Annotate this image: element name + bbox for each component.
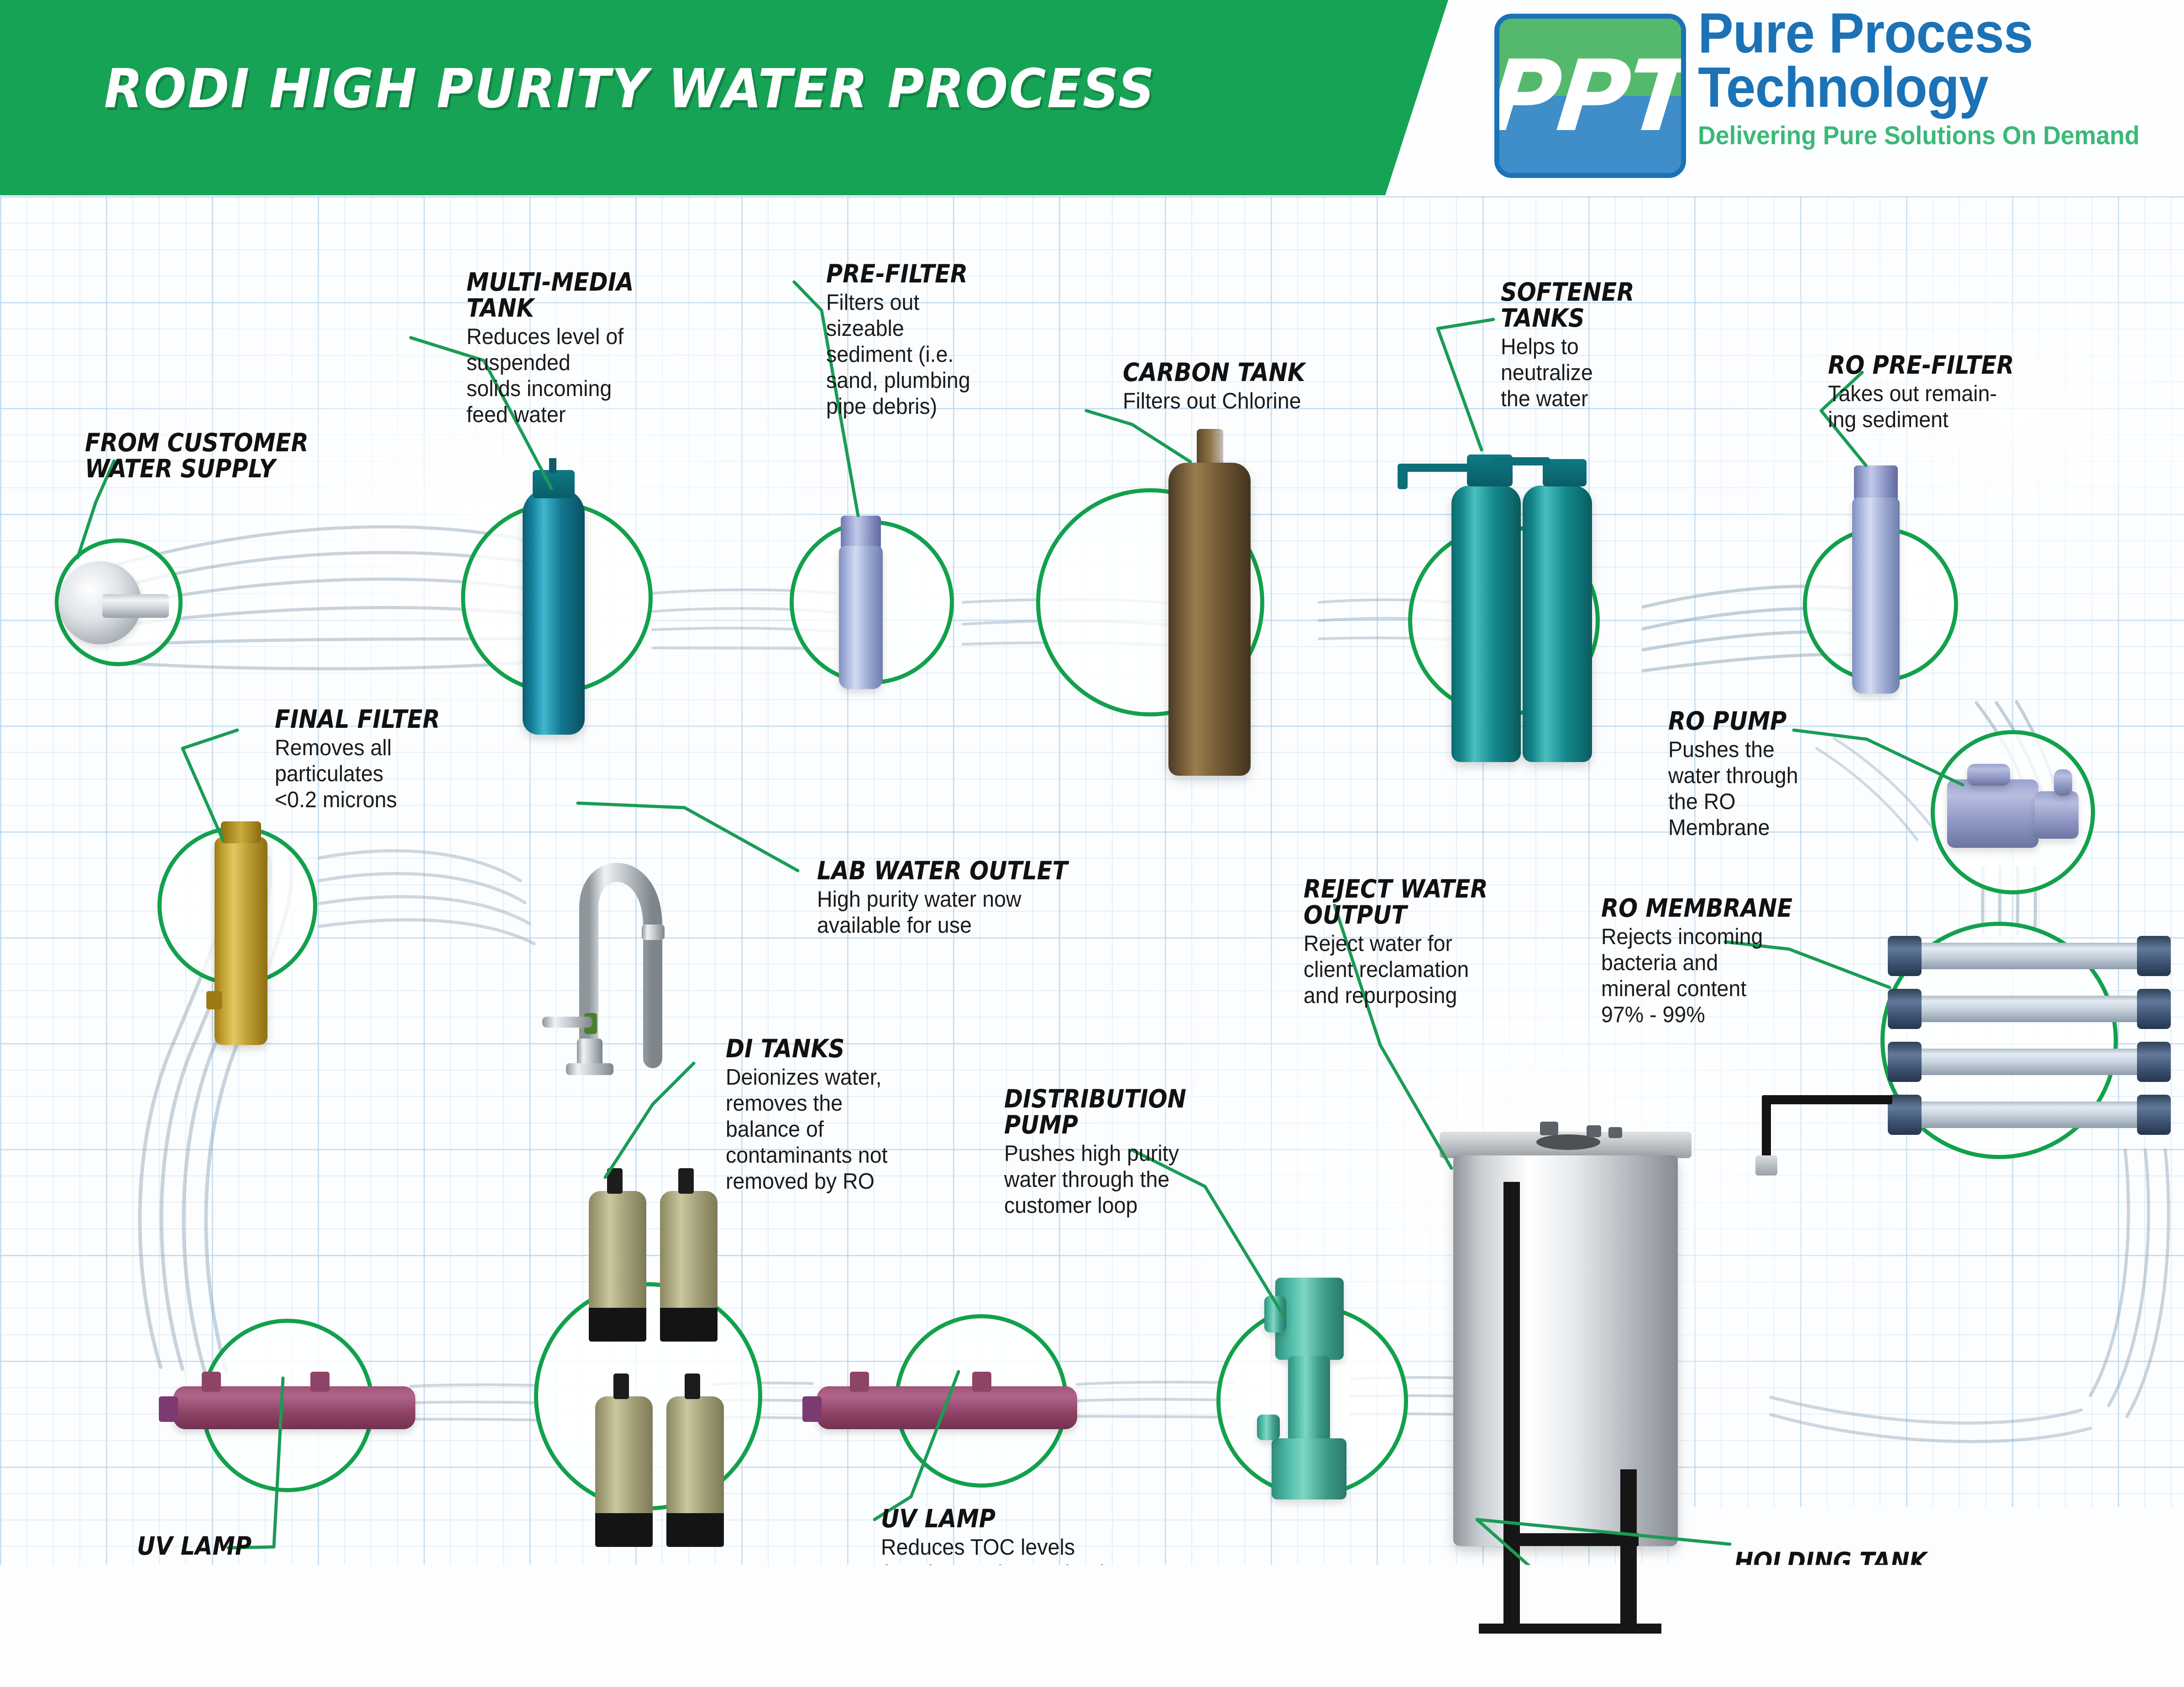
callout-uv-lamp-toc: UV LAMP Reduces TOC levels (Total Organi… — [881, 1506, 1228, 1587]
callout-reject-water-output: REJECT WATER OUTPUT Reject water for cli… — [1304, 876, 1550, 1009]
softener-left-inlet-elbow — [1398, 464, 1408, 489]
callout-body: Reject water for client reclamation and … — [1304, 931, 1538, 1008]
multi-media-tank-body — [523, 488, 585, 735]
di-tank — [660, 1191, 718, 1342]
ro-membrane-end-cap-right — [2137, 936, 2171, 976]
ro-membrane-array — [1888, 938, 2171, 1144]
di-tank-base — [660, 1308, 718, 1342]
ro-membrane-vessel — [1888, 991, 2171, 1027]
water-supply-inlet — [58, 558, 168, 649]
callout-title: FROM CUSTOMER WATER SUPPLY — [85, 430, 340, 482]
callout-body: Kills bacteria — [137, 1562, 345, 1588]
logo-name-line-2: Technology — [1698, 61, 2140, 115]
holding-tank-leg-right — [1620, 1469, 1637, 1634]
distribution-pump-terminal-box — [1264, 1296, 1286, 1332]
softener-tank-right — [1523, 461, 1592, 762]
ro-pump-discharge-port — [2054, 769, 2072, 796]
distribution-pump-suction-port — [1257, 1415, 1280, 1440]
di-tank — [666, 1396, 724, 1547]
carbon-tank — [1168, 429, 1251, 776]
softener-tank-right-body — [1523, 486, 1592, 762]
callout-body: Filters out sizeable sediment (i.e. sand… — [826, 290, 1021, 419]
callout-pre-filter: PRE-FILTER Filters out sizeable sediment… — [826, 261, 1032, 419]
distribution-pump — [1264, 1278, 1365, 1506]
callout-carbon-tank: CARBON TANK Filters out Chlorine — [1123, 360, 1406, 414]
ro-membrane-end-cap-right — [2137, 1042, 2171, 1081]
callout-title: DISTRIBUTION PUMP — [1004, 1086, 1222, 1138]
supply-pipe — [102, 594, 169, 618]
di-tank-valve — [613, 1374, 629, 1399]
callout-ro-pre-filter: RO PRE-FILTER Takes out remain- ing sedi… — [1828, 352, 2084, 433]
holding-tank-base-rail — [1479, 1624, 1661, 1634]
uv-lamp-bacteria — [173, 1378, 415, 1433]
multi-media-valve-head — [533, 470, 575, 498]
callout-body: Pushes the water through the RO Membrane — [1668, 737, 1855, 841]
ro-pump-volute — [2035, 791, 2079, 839]
final-filter-head — [221, 821, 261, 843]
carbon-tank-neck — [1197, 429, 1223, 466]
callout-ro-pump: RO PUMP Pushes the water through the RO … — [1668, 708, 1865, 841]
callout-body: Rejects incoming bacteria and mineral co… — [1601, 924, 1827, 1028]
callout-title: CARBON TANK — [1123, 360, 1377, 386]
callout-uv-lamp-bacteria: UV LAMP Kills bacteria — [137, 1533, 356, 1588]
reject-pipe-vertical — [1762, 1095, 1771, 1160]
distribution-pump-column — [1288, 1356, 1330, 1443]
uv-lamp-toc-port-outlet — [972, 1372, 991, 1392]
pre-filter-housing — [839, 516, 883, 689]
softener-tank-left — [1451, 461, 1521, 762]
ro-membrane-vessel — [1888, 1044, 2171, 1080]
uv-lamp-bacteria-body — [173, 1386, 415, 1429]
ro-membrane-end-cap-right — [2137, 989, 2171, 1029]
holding-tank — [1447, 1132, 1684, 1634]
holding-tank-cross-brace — [1503, 1533, 1639, 1546]
callout-title: RO PRE-FILTER — [1828, 352, 2058, 378]
di-tank — [595, 1396, 653, 1547]
callout-body: High purity water now available for use — [817, 887, 1138, 939]
reject-water-pipe — [1762, 1095, 1899, 1173]
uv-lamp-toc — [817, 1378, 1077, 1433]
callout-title: PRE-FILTER — [826, 261, 1011, 287]
ro-membrane-vessel — [1888, 1097, 2171, 1133]
callout-title: UV LAMP — [137, 1533, 334, 1559]
callout-body: Removes all particulates <0.2 microns — [275, 735, 492, 813]
callout-body: Takes out remain- ing sediment — [1828, 381, 2071, 433]
callout-title: SOFTENER TANKS — [1501, 279, 1681, 331]
callout-body: Filters out Chlorine — [1123, 388, 1392, 414]
callout-ro-membrane: RO MEMBRANE Rejects incoming bacteria an… — [1601, 895, 1838, 1028]
ro-pump-terminal-box — [1967, 764, 2010, 786]
callout-body: Reduces TOC levels (Total Organice Carbo… — [881, 1535, 1210, 1587]
ro-membrane-end-cap-left — [1888, 936, 1922, 976]
callout-distribution-pump: DISTRIBUTION PUMP Pushes high purity wat… — [1004, 1086, 1246, 1219]
uv-lamp-bacteria-port-inlet — [202, 1372, 221, 1392]
callout-body: Helps to neutralize the water — [1501, 334, 1692, 412]
callout-title: UV LAMP — [881, 1506, 1193, 1532]
final-filter-body — [215, 837, 267, 1045]
uv-lamp-bacteria-end-cap — [159, 1396, 178, 1422]
multi-media-tank — [523, 470, 585, 735]
holding-tank-shell — [1453, 1155, 1678, 1546]
ro-pump-motor — [1947, 779, 2038, 848]
callout-lab-water-outlet: LAB WATER OUTLET High purity water now a… — [817, 858, 1155, 939]
di-tank-array — [589, 1159, 739, 1597]
callout-title: LAB WATER OUTLET — [817, 858, 1121, 884]
carbon-tank-body — [1168, 463, 1251, 776]
ro-pre-filter-bowl — [1852, 497, 1900, 694]
uv-lamp-toc-port-inlet — [850, 1372, 869, 1392]
di-tank-valve — [678, 1168, 694, 1194]
callout-title: FINAL FILTER — [275, 706, 480, 732]
distribution-pump-base — [1272, 1438, 1346, 1499]
logo-tagline: Delivering Pure Solutions On Demand — [1698, 120, 2140, 151]
callout-title: REJECT WATER OUTPUT — [1304, 876, 1525, 928]
logo-mark-letters: PPT — [1494, 19, 1686, 173]
uv-lamp-toc-end-cap — [802, 1396, 822, 1422]
multi-media-valve-stem — [549, 458, 556, 473]
di-tank-valve — [685, 1374, 700, 1399]
callout-body: Reduces level of suspended solids incomi… — [466, 324, 683, 428]
ro-membrane-tube — [1908, 1102, 2151, 1128]
softener-left-inlet-pipe — [1401, 464, 1471, 472]
di-tank-base — [589, 1308, 646, 1342]
holding-tank-nozzle-2 — [1587, 1125, 1601, 1137]
lab-faucet — [516, 744, 707, 1081]
callout-title: HOLDING TANK — [1734, 1549, 2063, 1575]
holding-tank-nozzle-1 — [1540, 1122, 1558, 1135]
infographic-canvas: RODI HIGH PURITY WATER PROCESS PPT Pure … — [0, 0, 2184, 1687]
ro-membrane-tube — [1908, 943, 2151, 969]
callout-body: Pushes high purity water through the cus… — [1004, 1141, 1234, 1218]
pre-filter-cap — [841, 516, 881, 549]
callout-final-filter: FINAL FILTER Removes all particulates <0… — [275, 706, 503, 813]
callout-title: RO PUMP — [1668, 708, 1845, 734]
di-tank-base — [595, 1513, 653, 1547]
softener-right-inlet-pipe — [1492, 457, 1550, 465]
ro-membrane-tube — [1908, 996, 2151, 1022]
callout-body: With level control for proper system ope… — [1734, 1577, 2081, 1630]
uv-lamp-toc-body — [817, 1386, 1077, 1429]
callout-holding-tank: HOLDING TANK With level control for prop… — [1734, 1549, 2100, 1630]
ro-membrane-end-cap-left — [1888, 1042, 1922, 1081]
final-filter — [215, 821, 267, 1045]
callout-title: RO MEMBRANE — [1601, 895, 1815, 921]
callout-title: DI TANKS — [726, 1036, 956, 1062]
company-logo: PPT Pure Process Technology Delivering P… — [1494, 6, 2168, 178]
reject-pipe-horizontal — [1762, 1095, 1892, 1104]
ro-pre-filter-housing — [1852, 465, 1900, 694]
di-tank — [589, 1191, 646, 1342]
ro-pump — [1947, 767, 2079, 858]
uv-lamp-bacteria-port-outlet — [310, 1372, 330, 1392]
callout-multi-media-tank: MULTI-MEDIA TANK Reduces level of suspen… — [466, 269, 695, 428]
softener-tank-left-body — [1451, 486, 1521, 762]
pre-filter-bowl — [839, 546, 883, 689]
ppt-logo-mark: PPT — [1494, 14, 1686, 178]
ro-membrane-end-cap-right — [2137, 1095, 2171, 1134]
ro-pre-filter-cap — [1854, 465, 1898, 501]
ro-membrane-tube — [1908, 1049, 2151, 1075]
ro-membrane-vessel — [1888, 938, 2171, 974]
logo-wordmark: Pure Process Technology Delivering Pure … — [1698, 6, 2168, 151]
di-tank-base — [666, 1513, 724, 1547]
holding-tank-nozzle-3 — [1608, 1127, 1622, 1138]
logo-name-line-1: Pure Process — [1698, 6, 2140, 61]
callout-from-customer-water-supply: FROM CUSTOMER WATER SUPPLY — [85, 430, 368, 485]
di-tank-valve — [607, 1168, 623, 1194]
callout-title: MULTI-MEDIA TANK — [466, 269, 672, 321]
page-title: RODI HIGH PURITY WATER PROCESS — [104, 62, 1156, 115]
callout-softener-tanks: SOFTENER TANKS Helps to neutralize the w… — [1501, 279, 1702, 412]
final-filter-port — [206, 991, 222, 1009]
callout-body: Deionizes water, removes the balance of … — [726, 1065, 969, 1194]
holding-tank-leg-left — [1503, 1182, 1520, 1634]
reject-pipe-nozzle — [1755, 1155, 1777, 1175]
ro-membrane-end-cap-left — [1888, 989, 1922, 1029]
callout-di-tanks: DI TANKS Deionizes water, removes the ba… — [726, 1036, 981, 1194]
